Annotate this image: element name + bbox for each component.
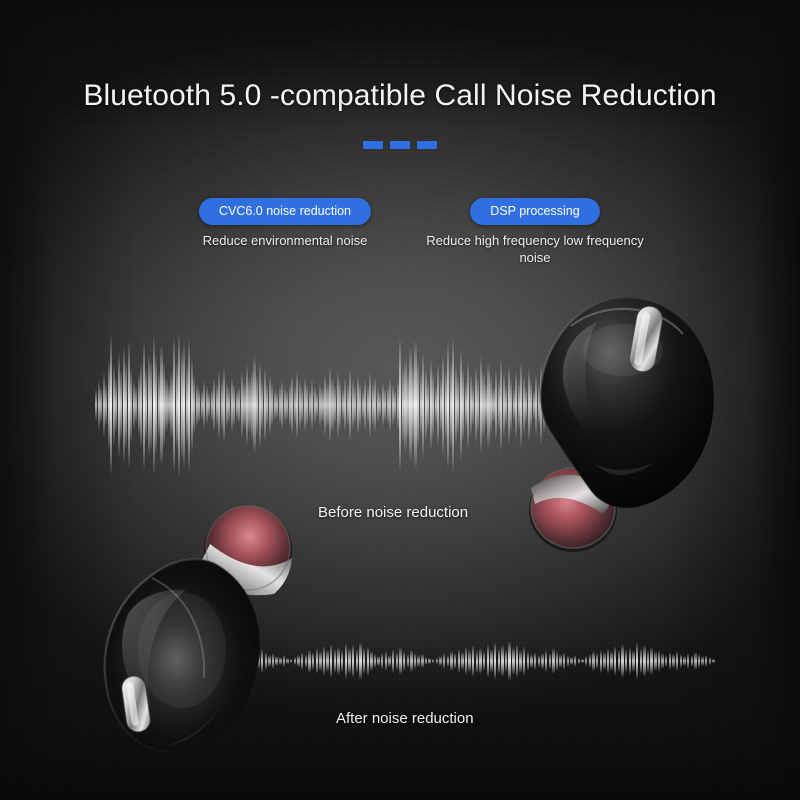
waveform-bar <box>356 649 358 673</box>
waveform-bar <box>359 642 361 681</box>
waveform-bar <box>428 658 430 664</box>
waveform-bar <box>672 654 674 668</box>
waveform-bar <box>483 651 485 670</box>
caption-after-noise-reduction: After noise reduction <box>336 710 474 727</box>
waveform-bar <box>694 652 696 670</box>
waveform-bar <box>334 386 336 424</box>
waveform-bar <box>691 655 693 668</box>
waveform-bar <box>443 653 445 669</box>
waveform-after-noise-reduction <box>250 630 718 692</box>
waveform-bar <box>479 648 481 675</box>
earbud-bottom-left <box>90 498 320 768</box>
waveform-bar <box>261 380 263 430</box>
waveform-bar <box>687 653 689 670</box>
waveform-bar <box>501 645 503 677</box>
waveform-bar <box>374 654 376 668</box>
waveform-bar <box>427 380 429 430</box>
waveform-bar <box>705 655 707 667</box>
waveform-bar <box>422 352 424 459</box>
waveform-bar <box>454 653 456 670</box>
waveform-bar <box>198 387 200 423</box>
waveform-bar <box>447 341 449 468</box>
waveform-bar <box>330 644 332 677</box>
divider-dashes <box>0 141 800 149</box>
waveform-bar <box>683 656 685 666</box>
waveform-bar <box>326 650 328 672</box>
waveform-bar <box>516 644 518 677</box>
waveform-bar <box>334 649 336 674</box>
waveform-bar <box>432 372 434 437</box>
waveform-bar <box>425 657 427 665</box>
waveform-bar <box>712 659 714 664</box>
waveform-bar <box>354 387 356 423</box>
waveform-bar <box>465 647 467 675</box>
waveform-bar <box>95 389 97 422</box>
waveform-bar <box>698 654 700 668</box>
waveform-bar <box>120 369 122 440</box>
waveform-bar <box>512 647 514 675</box>
waveform-bar <box>658 650 660 672</box>
waveform-bar <box>421 654 423 668</box>
waveform-bar <box>271 383 273 427</box>
waveform-bar <box>392 649 394 674</box>
waveform-bar <box>385 651 387 670</box>
waveform-bar <box>352 644 354 678</box>
divider-dash <box>363 141 383 149</box>
waveform-bar <box>600 650 602 673</box>
waveform-bar <box>208 392 210 419</box>
waveform-bar <box>458 649 460 673</box>
divider-dash <box>390 141 410 149</box>
waveform-bar <box>621 644 623 678</box>
waveform-bar <box>323 646 325 676</box>
waveform-bar <box>603 652 605 669</box>
waveform-bar <box>498 648 500 675</box>
earbud-top-right <box>505 292 735 562</box>
waveform-bar <box>665 655 667 667</box>
feature-dsp: DSP processing Reduce high frequency low… <box>420 198 650 266</box>
page-title: Bluetooth 5.0 -compatible Call Noise Red… <box>0 79 800 113</box>
waveform-bar <box>618 650 620 672</box>
waveform-bar <box>490 649 492 674</box>
waveform-bar <box>643 645 645 677</box>
waveform-bar <box>256 374 258 436</box>
waveform-bar <box>494 642 496 680</box>
waveform-bar <box>559 654 561 668</box>
waveform-bar <box>650 647 652 675</box>
waveform-bar <box>570 657 572 665</box>
waveform-bar <box>581 659 583 664</box>
waveform-bar <box>632 650 634 671</box>
waveform-bar <box>647 650 649 673</box>
waveform-bar <box>367 646 369 676</box>
waveform-bar <box>552 648 554 674</box>
waveform-bar <box>276 392 278 419</box>
waveform-bar <box>110 334 112 476</box>
waveform-bar <box>286 390 288 420</box>
waveform-bar <box>447 655 449 668</box>
waveform-bar <box>614 646 616 676</box>
waveform-bar <box>701 656 703 665</box>
waveform-bar <box>487 644 489 679</box>
waveform-bar <box>349 369 351 440</box>
waveform-bar <box>203 381 205 428</box>
waveform-bar <box>281 380 283 430</box>
feature-cvc-description: Reduce environmental noise <box>170 232 400 249</box>
waveform-bar <box>640 648 642 674</box>
caption-before-noise-reduction: Before noise reduction <box>318 504 468 521</box>
waveform-bar <box>500 359 502 451</box>
waveform-bar <box>578 658 580 664</box>
waveform-bar <box>592 651 594 670</box>
waveform-bar <box>337 647 339 676</box>
waveform-bar <box>417 361 419 450</box>
waveform-bar <box>452 337 454 473</box>
waveform-bar <box>403 651 405 671</box>
waveform-bar <box>377 656 379 666</box>
waveform-bar <box>410 650 412 672</box>
waveform-bar <box>534 652 536 670</box>
waveform-bar <box>348 648 350 674</box>
waveform-bar <box>596 653 598 669</box>
waveform-bar <box>341 650 343 671</box>
waveform-bar <box>625 649 627 673</box>
waveform-bar <box>709 657 711 664</box>
waveform-before-noise-reduction <box>95 330 550 480</box>
badge-cvc[interactable]: CVC6.0 noise reduction <box>199 198 371 225</box>
waveform-bar <box>541 653 543 669</box>
waveform-bar <box>636 642 638 681</box>
waveform-bar <box>461 652 463 670</box>
waveform-bar <box>530 654 532 669</box>
waveform-bar <box>417 655 419 666</box>
waveform-bar <box>523 646 525 675</box>
waveform-bar <box>680 654 682 669</box>
waveform-bar <box>388 655 390 668</box>
waveform-bar <box>130 367 132 444</box>
waveform-bar <box>344 378 346 431</box>
waveform-bar <box>173 337 175 473</box>
waveform-bar <box>563 652 565 669</box>
waveform-bar <box>359 383 361 427</box>
waveform-bar <box>556 651 558 670</box>
waveform-bar <box>436 658 438 664</box>
waveform-bar <box>545 650 547 672</box>
waveform-bar <box>527 651 529 671</box>
divider-dash <box>417 141 437 149</box>
waveform-bar <box>669 652 671 669</box>
waveform-bar <box>396 652 398 669</box>
waveform-bar <box>291 375 293 434</box>
waveform-bar <box>188 338 190 471</box>
feature-dsp-description: Reduce high frequency low frequency nois… <box>420 232 650 266</box>
waveform-bar <box>345 643 347 680</box>
waveform-bar <box>100 386 102 424</box>
waveform-bar <box>105 383 107 427</box>
waveform-bar <box>610 651 612 671</box>
waveform-bar <box>407 654 409 669</box>
waveform-bar <box>538 655 540 667</box>
waveform-bar <box>369 372 371 437</box>
waveform-bar <box>472 645 474 676</box>
waveform-bar <box>364 380 366 430</box>
waveform-bar <box>370 651 372 671</box>
waveform-bar <box>439 656 441 666</box>
product-infographic: Bluetooth 5.0 -compatible Call Noise Red… <box>0 0 800 800</box>
waveform-bar <box>676 651 678 671</box>
waveform-bar <box>661 653 663 669</box>
waveform-bar <box>266 384 268 425</box>
waveform-bar <box>574 655 576 667</box>
waveform-bar <box>495 369 497 440</box>
waveform-bar <box>450 651 452 671</box>
waveform-bar <box>505 650 507 672</box>
waveform-bar <box>363 648 365 675</box>
waveform-bar <box>414 653 416 670</box>
waveform-bar <box>589 654 591 668</box>
badge-dsp[interactable]: DSP processing <box>470 198 599 225</box>
waveform-bar <box>468 650 470 671</box>
waveform-bar <box>607 648 609 675</box>
waveform-bar <box>178 332 180 477</box>
waveform-bar <box>115 377 117 433</box>
waveform-bar <box>381 653 383 669</box>
waveform-bar <box>508 641 510 681</box>
waveform-bar <box>193 375 195 434</box>
waveform-bar <box>125 361 127 450</box>
waveform-bar <box>476 650 478 673</box>
waveform-bar <box>183 341 185 468</box>
waveform-bar <box>437 364 439 447</box>
waveform-bar <box>567 655 569 666</box>
waveform-bar <box>432 659 434 663</box>
waveform-bar <box>549 653 551 670</box>
waveform-bar <box>654 651 656 670</box>
waveform-bar <box>442 355 444 456</box>
waveform-bar <box>519 650 521 673</box>
waveform-bar <box>399 647 401 675</box>
waveform-bar <box>629 647 631 676</box>
feature-cvc: CVC6.0 noise reduction Reduce environmen… <box>170 198 400 249</box>
waveform-bar <box>339 381 341 428</box>
waveform-bar <box>585 656 587 665</box>
